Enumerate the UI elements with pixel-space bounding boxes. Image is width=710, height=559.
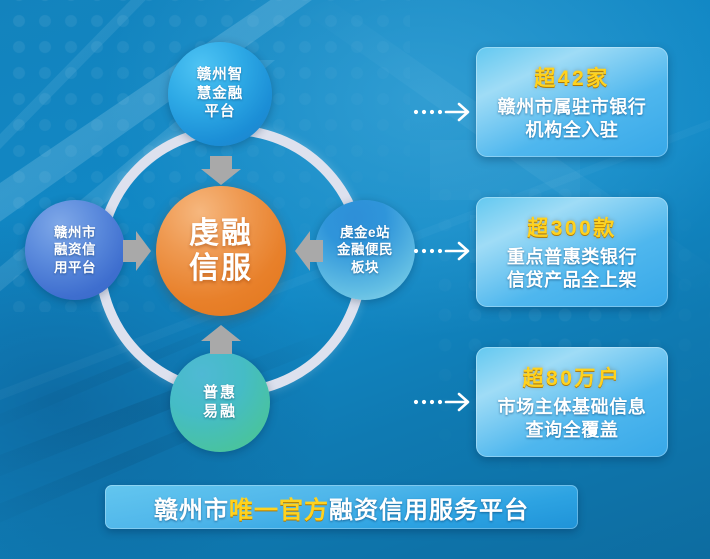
node-left-line-1: 赣州市 <box>54 224 96 241</box>
stat-panel-products[interactable]: 超300款 重点普惠类银行 信贷产品全上架 <box>476 197 668 307</box>
dotted-arrow-right-icon-2 <box>412 240 472 262</box>
stat-panel-entities-body: 市场主体基础信息 查询全覆盖 <box>498 396 647 442</box>
node-left-credit-platform[interactable]: 赣州市 融资信 用平台 <box>25 200 125 300</box>
node-right-line-2: 金融便民 <box>337 241 393 258</box>
stat-panel-banks-body: 赣州市属驻市银行 机构全入驻 <box>498 96 647 142</box>
stat-panel-entities-highlight: 超80万户 <box>523 362 622 392</box>
node-top-line-3: 平台 <box>205 103 236 122</box>
node-bottom-line-1: 普惠 <box>203 383 237 402</box>
stat-panel-entities-line-2: 查询全覆盖 <box>498 419 647 442</box>
arrow-up-icon <box>200 325 242 355</box>
arrow-down-icon <box>200 156 242 186</box>
node-left-line-2: 融资信 <box>54 241 96 258</box>
node-left-line-3: 用平台 <box>54 259 96 276</box>
node-right-qianjin-estation[interactable]: 虔金e站 金融便民 板块 <box>315 200 415 300</box>
stat-panel-banks-highlight: 超42家 <box>534 62 609 92</box>
infographic-canvas: 赣州智 慧金融 平台 虔金e站 金融便民 板块 普惠 易融 赣州市 融资信 用平… <box>0 0 710 559</box>
stat-panel-products-body: 重点普惠类银行 信贷产品全上架 <box>507 246 637 292</box>
dotted-arrow-right-icon-3 <box>412 391 472 413</box>
stat-panel-entities[interactable]: 超80万户 市场主体基础信息 查询全覆盖 <box>476 347 668 457</box>
node-top-line-1: 赣州智 <box>197 66 244 85</box>
arrow-right-icon <box>122 230 152 272</box>
stat-panel-banks[interactable]: 超42家 赣州市属驻市银行 机构全入驻 <box>476 47 668 157</box>
center-line-2: 信服 <box>189 251 253 286</box>
node-bottom-line-2: 易融 <box>203 402 237 421</box>
node-bottom-inclusive-finance[interactable]: 普惠 易融 <box>170 352 270 452</box>
node-top-smart-finance-platform[interactable]: 赣州智 慧金融 平台 <box>168 42 272 146</box>
dotted-arrow-right-icon-1 <box>412 101 472 123</box>
arrow-left-icon <box>294 230 324 272</box>
center-node-qianrong-xinfu[interactable]: 虔融 信服 <box>156 186 286 316</box>
node-right-line-3: 板块 <box>351 259 379 276</box>
bottom-banner[interactable]: 赣州市 唯一官方 融资信用服务平台 <box>105 485 578 529</box>
banner-suffix: 融资信用服务平台 <box>329 490 529 525</box>
node-top-line-2: 慧金融 <box>197 85 244 104</box>
node-right-line-1: 虔金e站 <box>340 224 390 241</box>
banner-prefix: 赣州市 <box>154 490 229 525</box>
stat-panel-banks-line-2: 机构全入驻 <box>498 119 647 142</box>
stat-panel-banks-line-1: 赣州市属驻市银行 <box>498 96 647 119</box>
stat-panel-entities-line-1: 市场主体基础信息 <box>498 396 647 419</box>
center-line-1: 虔融 <box>189 216 253 251</box>
stat-panel-products-highlight: 超300款 <box>527 212 617 242</box>
banner-emphasis: 唯一官方 <box>229 490 329 525</box>
stat-panel-products-line-2: 信贷产品全上架 <box>507 269 637 292</box>
stat-panel-products-line-1: 重点普惠类银行 <box>507 246 637 269</box>
